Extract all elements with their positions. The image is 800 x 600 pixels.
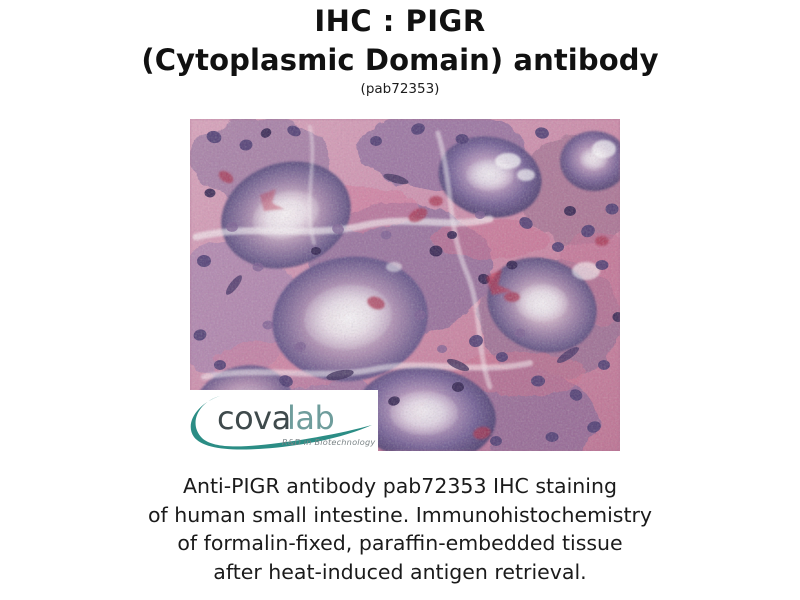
page-title: IHC : PIGR (Cytoplasmic Domain) antibody… [0, 4, 800, 98]
logo-tagline: R&D in Biotechnology [282, 437, 375, 447]
covalab-logo: cova lab R&D in Biotechnology [190, 390, 378, 451]
caption-line: Anti-PIGR antibody pab72353 IHC staining [0, 472, 800, 501]
caption-line: after heat-induced antigen retrieval. [0, 558, 800, 587]
figure-caption: Anti-PIGR antibody pab72353 IHC staining… [0, 472, 800, 586]
title-line-secondary: (Cytoplasmic Domain) antibody [0, 41, 800, 79]
covalab-logo-graphic: cova lab R&D in Biotechnology [190, 390, 378, 451]
page-root: IHC : PIGR (Cytoplasmic Domain) antibody… [0, 0, 800, 600]
catalog-code: (pab72353) [0, 80, 800, 98]
logo-wordmark-cova: cova [217, 399, 291, 437]
title-line-primary: IHC : PIGR [0, 4, 800, 38]
caption-line: of human small intestine. Immunohistoche… [0, 501, 800, 530]
logo-wordmark-lab: lab [287, 399, 334, 437]
caption-line: of formalin-fixed, paraffin-embedded tis… [0, 529, 800, 558]
